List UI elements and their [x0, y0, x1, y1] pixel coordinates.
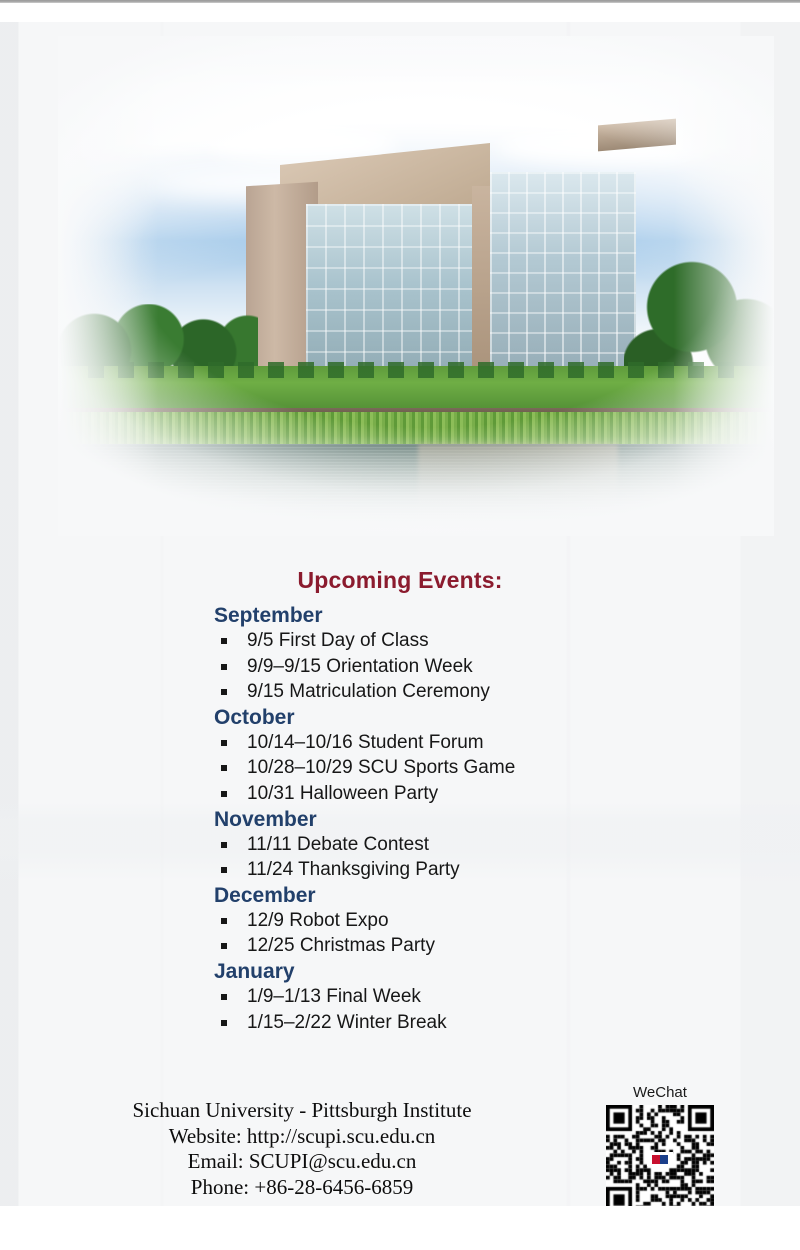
event-label: 12/9 Robot Expo	[247, 910, 389, 931]
event-item: 10/14–10/16 Student Forum	[214, 730, 734, 756]
event-label: 1/9–1/13 Final Week	[247, 986, 421, 1007]
bullet-icon	[221, 943, 227, 949]
event-item: 9/5 First Day of Class	[214, 628, 734, 654]
bullet-icon	[221, 638, 227, 644]
bullet-icon	[221, 1020, 227, 1026]
event-item: 1/15–2/22 Winter Break	[214, 1010, 734, 1036]
bullet-icon	[221, 994, 227, 1000]
wechat-qr-code[interactable]	[606, 1105, 714, 1213]
photo-feathered-edge	[58, 36, 774, 536]
scu-logo-icon	[647, 1152, 673, 1166]
event-item: 11/24 Thanksgiving Party	[214, 857, 734, 883]
event-label: 10/31 Halloween Party	[247, 783, 438, 804]
paper-background: Upcoming Events: September9/5 First Day …	[0, 22, 800, 1228]
logo-swatch-blue	[660, 1155, 668, 1164]
event-label: 10/28–10/29 SCU Sports Game	[247, 757, 515, 778]
month-heading: November	[214, 807, 734, 832]
event-label: 9/5 First Day of Class	[247, 630, 429, 651]
logo-swatch-red	[652, 1155, 660, 1164]
month-heading: December	[214, 883, 734, 908]
bullet-icon	[221, 842, 227, 848]
event-label: 11/11 Debate Contest	[247, 834, 429, 855]
event-item: 10/31 Halloween Party	[214, 781, 734, 807]
top-scan-rule	[0, 0, 800, 3]
bullet-icon	[221, 791, 227, 797]
phone-line: Phone: +86-28-6456-6859	[92, 1175, 512, 1201]
event-item: 10/28–10/29 SCU Sports Game	[214, 755, 734, 781]
event-item: 11/11 Debate Contest	[214, 832, 734, 858]
wechat-label: WeChat	[598, 1084, 722, 1101]
event-item: 9/15 Matriculation Ceremony	[214, 679, 734, 705]
events-heading: Upcoming Events:	[0, 567, 800, 594]
website-line[interactable]: Website: http://scupi.scu.edu.cn	[92, 1124, 512, 1150]
bullet-icon	[221, 765, 227, 771]
wechat-qr-block: WeChat	[598, 1084, 722, 1213]
campus-photo	[58, 36, 774, 536]
event-label: 10/14–10/16 Student Forum	[247, 732, 484, 753]
organization-name: Sichuan University - Pittsburgh Institut…	[92, 1098, 512, 1124]
bullet-icon	[221, 867, 227, 873]
event-label: 11/24 Thanksgiving Party	[247, 859, 460, 880]
event-label: 9/9–9/15 Orientation Week	[247, 656, 473, 677]
bullet-icon	[221, 740, 227, 746]
event-label: 1/15–2/22 Winter Break	[247, 1012, 447, 1033]
events-list: September9/5 First Day of Class9/9–9/15 …	[214, 603, 734, 1035]
contact-block: Sichuan University - Pittsburgh Institut…	[92, 1098, 512, 1200]
bullet-icon	[221, 664, 227, 670]
bottom-white-strip	[0, 1206, 800, 1228]
email-line[interactable]: Email: SCUPI@scu.edu.cn	[92, 1149, 512, 1175]
bullet-icon	[221, 689, 227, 695]
month-heading: January	[214, 959, 734, 984]
bullet-icon	[221, 918, 227, 924]
event-item: 1/9–1/13 Final Week	[214, 984, 734, 1010]
month-heading: October	[214, 705, 734, 730]
poster-page: Upcoming Events: September9/5 First Day …	[0, 0, 800, 1250]
event-label: 9/15 Matriculation Ceremony	[247, 681, 490, 702]
event-item: 9/9–9/15 Orientation Week	[214, 654, 734, 680]
event-item: 12/9 Robot Expo	[214, 908, 734, 934]
event-label: 12/25 Christmas Party	[247, 935, 435, 956]
month-heading: September	[214, 603, 734, 628]
event-item: 12/25 Christmas Party	[214, 933, 734, 959]
